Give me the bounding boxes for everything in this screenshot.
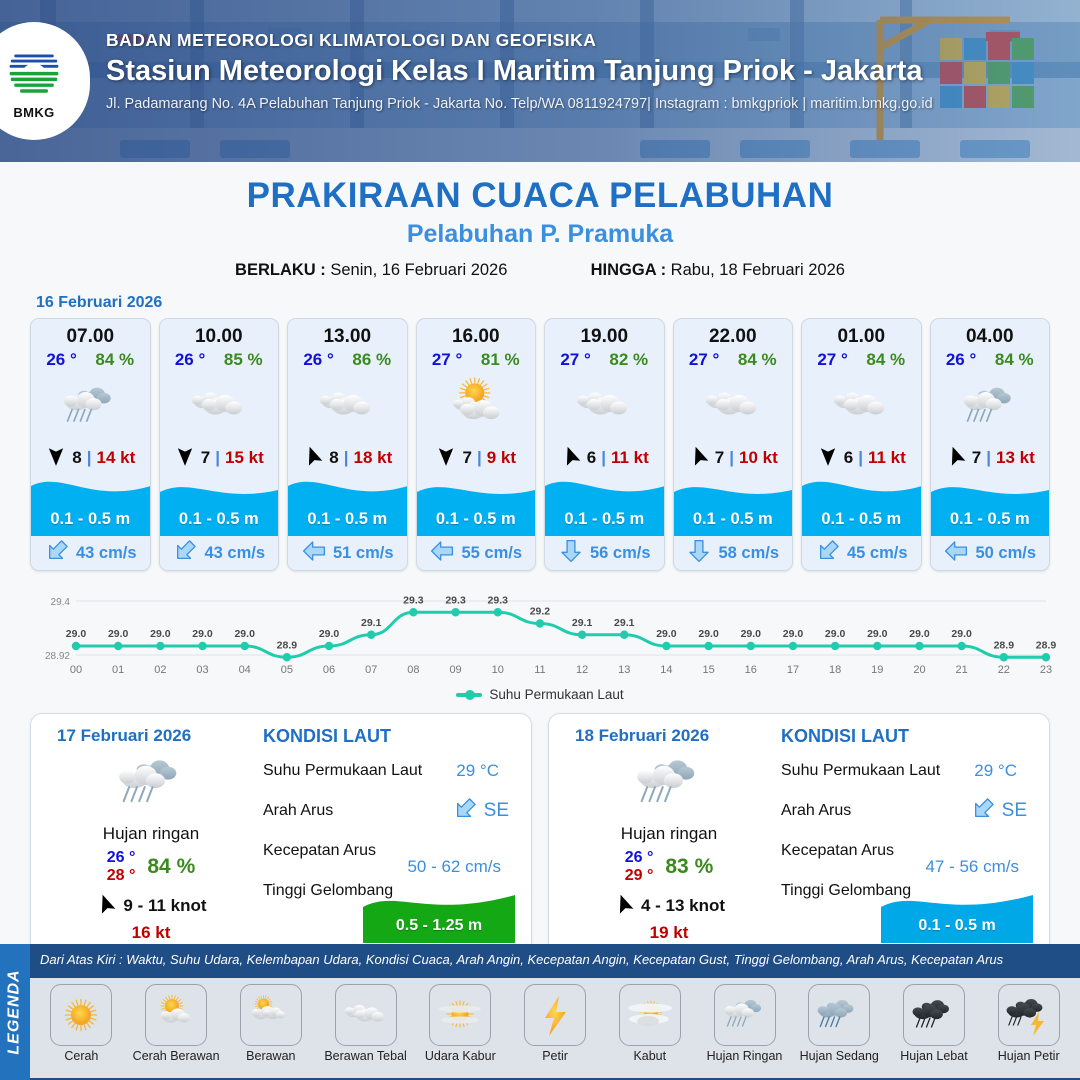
panel-gust: 16 kt <box>45 923 257 943</box>
forecast-card: 07.00 26 ° 84 % <box>30 318 151 571</box>
card-wind-speed: 8 <box>329 448 338 468</box>
svg-text:29.0: 29.0 <box>741 628 762 640</box>
chart-legend: Suhu Permukaan Laut <box>22 687 1058 702</box>
svg-text:29.0: 29.0 <box>825 628 846 640</box>
forecast-card: 19.00 27 ° 82 % <box>544 318 665 571</box>
legend-item: Hujan Lebat <box>887 984 982 1063</box>
legend-section: LEGENDA Dari Atas Kiri : Waktu, Suhu Uda… <box>0 944 1080 1080</box>
svg-text:07: 07 <box>365 664 377 676</box>
svg-text:18: 18 <box>829 664 841 676</box>
sst-chart: 29.428.9229.00029.00129.00229.00329.0042… <box>22 585 1058 705</box>
svg-text:29.1: 29.1 <box>614 617 635 629</box>
svg-text:29.0: 29.0 <box>698 628 719 640</box>
legend-item: Cerah <box>34 984 129 1063</box>
station-name: Stasiun Meteorologi Kelas I Maritim Tanj… <box>106 55 933 88</box>
sst-chart-svg: 29.428.9229.00029.00129.00229.00329.0042… <box>22 585 1058 685</box>
svg-text:29.0: 29.0 <box>108 628 129 640</box>
legend-tab-label: LEGENDA <box>6 969 24 1054</box>
cloudy-icon <box>288 372 407 442</box>
svg-text:29.3: 29.3 <box>445 594 466 606</box>
panel-sea-title: KONDISI LAUT <box>263 726 517 747</box>
panel-gust: 19 kt <box>563 923 775 943</box>
svg-text:05: 05 <box>281 664 293 676</box>
card-humidity: 82 % <box>609 350 648 370</box>
card-wave-band: 0.1 - 0.5 m <box>288 474 407 536</box>
panel-wave-value: 0.5 - 1.25 m <box>363 917 515 935</box>
svg-text:23: 23 <box>1040 664 1052 676</box>
wind-direction-arrow-icon <box>435 445 457 472</box>
card-wave-band: 0.1 - 0.5 m <box>160 474 279 536</box>
card-wave-band: 0.1 - 0.5 m <box>674 474 793 536</box>
cloudy-icon <box>160 372 279 442</box>
svg-text:29.2: 29.2 <box>530 606 551 618</box>
card-current-speed: 58 cm/s <box>718 544 779 563</box>
card-separator: | <box>858 448 863 468</box>
card-time: 01.00 <box>802 319 921 350</box>
chart-legend-swatch <box>456 693 482 697</box>
card-separator: | <box>477 448 482 468</box>
panel-wave-badge: 0.5 - 1.25 m <box>363 885 515 943</box>
panel-sst-value: 29 °C <box>456 761 499 781</box>
rain-light-icon <box>31 372 150 442</box>
svg-text:08: 08 <box>407 664 419 676</box>
legend-item-label: Berawan Tebal <box>324 1049 406 1063</box>
card-gust: 9 kt <box>487 448 516 468</box>
svg-text:00: 00 <box>70 664 82 676</box>
panel-sst-label: Suhu Permukaan Laut <box>263 762 422 780</box>
card-temperature: 26 ° <box>46 350 76 370</box>
svg-text:29.1: 29.1 <box>572 617 593 629</box>
card-temperature: 26 ° <box>175 350 205 370</box>
legend-item-label: Hujan Petir <box>998 1049 1060 1063</box>
svg-text:03: 03 <box>196 664 208 676</box>
card-wave-height: 0.1 - 0.5 m <box>545 510 664 529</box>
legend-item: Kabut <box>602 984 697 1063</box>
panel-wave-badge: 0.1 - 0.5 m <box>881 885 1033 943</box>
agency-name: BADAN METEOROLOGI KLIMATOLOGI DAN GEOFIS… <box>106 30 933 51</box>
svg-text:29.3: 29.3 <box>403 594 424 606</box>
current-direction-arrow-icon <box>970 796 996 827</box>
partly-cloudy-icon <box>417 372 536 442</box>
bmkg-logo-label: BMKG <box>13 105 54 120</box>
svg-text:14: 14 <box>660 664 672 676</box>
card-current-speed: 45 cm/s <box>847 544 908 563</box>
card-humidity: 84 % <box>866 350 905 370</box>
legend-item-label: Hujan Sedang <box>800 1049 879 1063</box>
forecast-card: 13.00 26 ° 86 % <box>287 318 408 571</box>
current-direction-arrow-icon <box>44 538 70 569</box>
legend-item-label: Cerah Berawan <box>133 1049 220 1063</box>
thunderstorm-icon <box>998 984 1060 1046</box>
card-humidity: 84 % <box>995 350 1034 370</box>
panel-date: 17 Februari 2026 <box>57 726 257 746</box>
rain-light-icon <box>931 372 1050 442</box>
card-wave-band: 0.1 - 0.5 m <box>802 474 921 536</box>
header-text-block: BADAN METEOROLOGI KLIMATOLOGI DAN GEOFIS… <box>106 30 933 112</box>
legend-item-label: Cerah <box>64 1049 98 1063</box>
wind-direction-arrow-icon <box>302 445 324 472</box>
card-time: 22.00 <box>674 319 793 350</box>
panel-current-speed-label: Kecepatan Arus <box>263 842 376 860</box>
svg-text:10: 10 <box>492 664 504 676</box>
card-wind-speed: 6 <box>587 448 596 468</box>
panel-humidity: 84 % <box>147 855 195 879</box>
svg-text:20: 20 <box>913 664 925 676</box>
card-wave-height: 0.1 - 0.5 m <box>160 510 279 529</box>
legend-item-label: Kabut <box>633 1049 666 1063</box>
current-direction-arrow-icon <box>172 538 198 569</box>
panel-wave-value: 0.1 - 0.5 m <box>881 917 1033 935</box>
legend-note: Dari Atas Kiri : Waktu, Suhu Udara, Kele… <box>40 952 1003 967</box>
card-wave-band: 0.1 - 0.5 m <box>931 474 1050 536</box>
svg-text:28.9: 28.9 <box>277 639 298 651</box>
svg-text:29.1: 29.1 <box>361 617 382 629</box>
card-wave-height: 0.1 - 0.5 m <box>417 510 536 529</box>
card-time: 19.00 <box>545 319 664 350</box>
day-summary-panels: 17 Februari 2026 Hu <box>0 705 1080 958</box>
page-subtitle: Pelabuhan P. Pramuka <box>0 220 1080 249</box>
svg-text:02: 02 <box>154 664 166 676</box>
card-wave-height: 0.1 - 0.5 m <box>931 510 1050 529</box>
card-temperature: 27 ° <box>560 350 590 370</box>
svg-text:13: 13 <box>618 664 630 676</box>
legend-item-label: Berawan <box>246 1049 295 1063</box>
cloud-sun-small-icon <box>240 984 302 1046</box>
card-humidity: 85 % <box>224 350 263 370</box>
card-wave-height: 0.1 - 0.5 m <box>31 510 150 529</box>
panel-temp-max: 28 ° <box>107 867 136 885</box>
svg-text:29.0: 29.0 <box>66 628 87 640</box>
wind-direction-arrow-icon <box>613 893 635 920</box>
berlaku-label: BERLAKU : <box>235 261 326 279</box>
card-temperature: 26 ° <box>946 350 976 370</box>
wind-direction-arrow-icon <box>945 445 967 472</box>
wind-direction-arrow-icon <box>95 893 117 920</box>
card-time: 04.00 <box>931 319 1050 350</box>
forecast-card: 16.00 27 ° 81 % <box>416 318 537 571</box>
forecast-card-list: 07.00 26 ° 84 % <box>0 318 1080 571</box>
card-current-speed: 51 cm/s <box>333 544 394 563</box>
svg-text:28.9: 28.9 <box>1036 639 1057 651</box>
svg-text:16: 16 <box>745 664 757 676</box>
card-gust: 13 kt <box>996 448 1035 468</box>
svg-text:15: 15 <box>702 664 714 676</box>
legend-item: Hujan Sedang <box>792 984 887 1063</box>
card-current-speed: 56 cm/s <box>590 544 651 563</box>
card-wave-height: 0.1 - 0.5 m <box>802 510 921 529</box>
card-temperature: 26 ° <box>303 350 333 370</box>
svg-text:29.0: 29.0 <box>150 628 171 640</box>
card-current-speed: 43 cm/s <box>204 544 265 563</box>
bmkg-logo-mark <box>5 42 63 104</box>
card-humidity: 86 % <box>352 350 391 370</box>
panel-humidity: 83 % <box>665 855 713 879</box>
forecast-day-label: 16 Februari 2026 <box>36 294 1080 312</box>
contact-info: Jl. Padamarang No. 4A Pelabuhan Tanjung … <box>106 96 933 112</box>
wind-direction-arrow-icon <box>817 445 839 472</box>
card-humidity: 84 % <box>738 350 777 370</box>
card-gust: 11 kt <box>611 448 649 468</box>
card-separator: | <box>215 448 220 468</box>
card-gust: 18 kt <box>353 448 392 468</box>
card-separator: | <box>729 448 734 468</box>
cloudy-icon <box>674 372 793 442</box>
rain-heavy-icon <box>903 984 965 1046</box>
svg-text:29.0: 29.0 <box>909 628 930 640</box>
card-gust: 15 kt <box>225 448 264 468</box>
card-current-speed: 50 cm/s <box>975 544 1036 563</box>
haze-icon <box>429 984 491 1046</box>
legend-item: Berawan Tebal <box>318 984 413 1063</box>
card-separator: | <box>87 448 92 468</box>
wind-direction-arrow-icon <box>45 445 67 472</box>
legend-item: Berawan <box>223 984 318 1063</box>
panel-wind-speed: 4 - 13 knot <box>641 896 725 916</box>
legend-item-label: Hujan Ringan <box>707 1049 783 1063</box>
current-direction-arrow-icon <box>943 538 969 569</box>
rain-moderate-icon <box>808 984 870 1046</box>
validity-row: BERLAKU : Senin, 16 Februari 2026 HINGGA… <box>0 261 1080 280</box>
panel-current-direction-label: Arah Arus <box>263 802 333 820</box>
legend-item: Petir <box>508 984 603 1063</box>
svg-text:01: 01 <box>112 664 124 676</box>
svg-text:29.0: 29.0 <box>234 628 255 640</box>
card-humidity: 84 % <box>95 350 134 370</box>
current-direction-arrow-icon <box>452 796 478 827</box>
forecast-card: 04.00 26 ° 84 % <box>930 318 1051 571</box>
card-wave-band: 0.1 - 0.5 m <box>417 474 536 536</box>
legend-item-label: Hujan Lebat <box>900 1049 967 1063</box>
day-summary-panel: 17 Februari 2026 Hu <box>30 713 532 958</box>
lightning-icon <box>524 984 586 1046</box>
card-temperature: 27 ° <box>817 350 847 370</box>
card-wind-speed: 7 <box>715 448 724 468</box>
panel-sst-value: 29 °C <box>974 761 1017 781</box>
card-wind-speed: 7 <box>972 448 981 468</box>
current-direction-arrow-icon <box>815 538 841 569</box>
card-wind-speed: 8 <box>72 448 81 468</box>
rain-light-icon <box>714 984 776 1046</box>
cloudy-icon <box>802 372 921 442</box>
hingga-value: Rabu, 18 Februari 2026 <box>671 261 845 279</box>
wind-direction-arrow-icon <box>174 445 196 472</box>
wind-direction-arrow-icon <box>560 445 582 472</box>
berlaku-value: Senin, 16 Februari 2026 <box>330 261 507 279</box>
panel-sst-label: Suhu Permukaan Laut <box>781 762 940 780</box>
legend-item: Hujan Ringan <box>697 984 792 1063</box>
rain-light-icon <box>45 748 257 820</box>
chart-legend-label: Suhu Permukaan Laut <box>489 687 623 702</box>
card-wind-speed: 7 <box>462 448 471 468</box>
legend-item-label: Petir <box>542 1049 568 1063</box>
panel-current-speed-label: Kecepatan Arus <box>781 842 894 860</box>
sun-icon <box>50 984 112 1046</box>
svg-text:06: 06 <box>323 664 335 676</box>
card-temperature: 27 ° <box>689 350 719 370</box>
legend-item-label: Udara Kabur <box>425 1049 496 1063</box>
current-direction-arrow-icon <box>301 538 327 569</box>
legend-item: Cerah Berawan <box>129 984 224 1063</box>
panel-temp-min: 26 ° <box>625 849 654 867</box>
svg-text:28.92: 28.92 <box>45 651 70 662</box>
panel-wind-speed: 9 - 11 knot <box>123 896 206 916</box>
panel-current-direction-value: SE <box>970 796 1027 827</box>
panel-current-direction-value: SE <box>452 796 509 827</box>
svg-text:11: 11 <box>534 664 545 676</box>
card-wave-band: 0.1 - 0.5 m <box>31 474 150 536</box>
svg-text:29.4: 29.4 <box>51 597 71 608</box>
card-wind-speed: 7 <box>201 448 210 468</box>
current-direction-arrow-icon <box>429 538 455 569</box>
panel-temp-min: 26 ° <box>107 849 136 867</box>
card-time: 07.00 <box>31 319 150 350</box>
wind-direction-arrow-icon <box>688 445 710 472</box>
legend-item: Hujan Petir <box>981 984 1076 1063</box>
card-wind-speed: 6 <box>844 448 853 468</box>
legend-item: Udara Kabur <box>413 984 508 1063</box>
svg-text:21: 21 <box>956 664 968 676</box>
card-wave-height: 0.1 - 0.5 m <box>288 510 407 529</box>
svg-text:12: 12 <box>576 664 588 676</box>
current-direction-arrow-icon <box>686 538 712 569</box>
panel-condition: Hujan ringan <box>45 824 257 844</box>
panel-temp-max: 29 ° <box>625 867 654 885</box>
legend-item-list: Cerah Cerah Berawan <box>30 978 1080 1078</box>
day-summary-panel: 18 Februari 2026 Hu <box>548 713 1050 958</box>
card-wave-height: 0.1 - 0.5 m <box>674 510 793 529</box>
card-time: 10.00 <box>160 319 279 350</box>
sun-cloud-icon <box>145 984 207 1046</box>
forecast-card: 10.00 26 ° 85 % <box>159 318 280 571</box>
hingga-label: HINGGA : <box>591 261 666 279</box>
svg-text:29.0: 29.0 <box>656 628 677 640</box>
svg-text:29.0: 29.0 <box>192 628 213 640</box>
page-title: PRAKIRAAN CUACA PELABUHAN <box>0 176 1080 216</box>
card-separator: | <box>344 448 349 468</box>
panel-condition: Hujan ringan <box>563 824 775 844</box>
cloudy-icon <box>545 372 664 442</box>
panel-date: 18 Februari 2026 <box>575 726 775 746</box>
panel-current-direction-label: Arah Arus <box>781 802 851 820</box>
card-current-speed: 55 cm/s <box>461 544 522 563</box>
card-temperature: 27 ° <box>432 350 462 370</box>
page-header: BMKG BADAN METEOROLOGI KLIMATOLOGI DAN G… <box>0 0 1080 162</box>
svg-text:19: 19 <box>871 664 883 676</box>
card-separator: | <box>986 448 991 468</box>
svg-text:29.3: 29.3 <box>488 594 509 606</box>
card-wave-band: 0.1 - 0.5 m <box>545 474 664 536</box>
svg-text:29.0: 29.0 <box>783 628 804 640</box>
card-humidity: 81 % <box>481 350 520 370</box>
title-block: PRAKIRAAN CUACA PELABUHAN Pelabuhan P. P… <box>0 176 1080 280</box>
legend-tab: LEGENDA <box>0 944 30 1080</box>
forecast-card: 01.00 27 ° 84 % <box>801 318 922 571</box>
svg-text:29.0: 29.0 <box>867 628 888 640</box>
card-gust: 11 kt <box>868 448 906 468</box>
svg-text:22: 22 <box>998 664 1010 676</box>
card-current-speed: 43 cm/s <box>76 544 137 563</box>
svg-text:29.0: 29.0 <box>319 628 340 640</box>
forecast-card: 22.00 27 ° 84 % <box>673 318 794 571</box>
card-gust: 10 kt <box>739 448 778 468</box>
svg-text:17: 17 <box>787 664 799 676</box>
current-direction-arrow-icon <box>558 538 584 569</box>
rain-light-icon <box>563 748 775 820</box>
svg-text:28.9: 28.9 <box>994 639 1015 651</box>
card-time: 16.00 <box>417 319 536 350</box>
svg-text:09: 09 <box>449 664 461 676</box>
svg-text:04: 04 <box>239 664 251 676</box>
clouds-icon <box>335 984 397 1046</box>
card-separator: | <box>601 448 606 468</box>
fog-icon <box>619 984 681 1046</box>
svg-text:29.0: 29.0 <box>951 628 972 640</box>
card-time: 13.00 <box>288 319 407 350</box>
card-gust: 14 kt <box>96 448 135 468</box>
panel-sea-title: KONDISI LAUT <box>781 726 1035 747</box>
